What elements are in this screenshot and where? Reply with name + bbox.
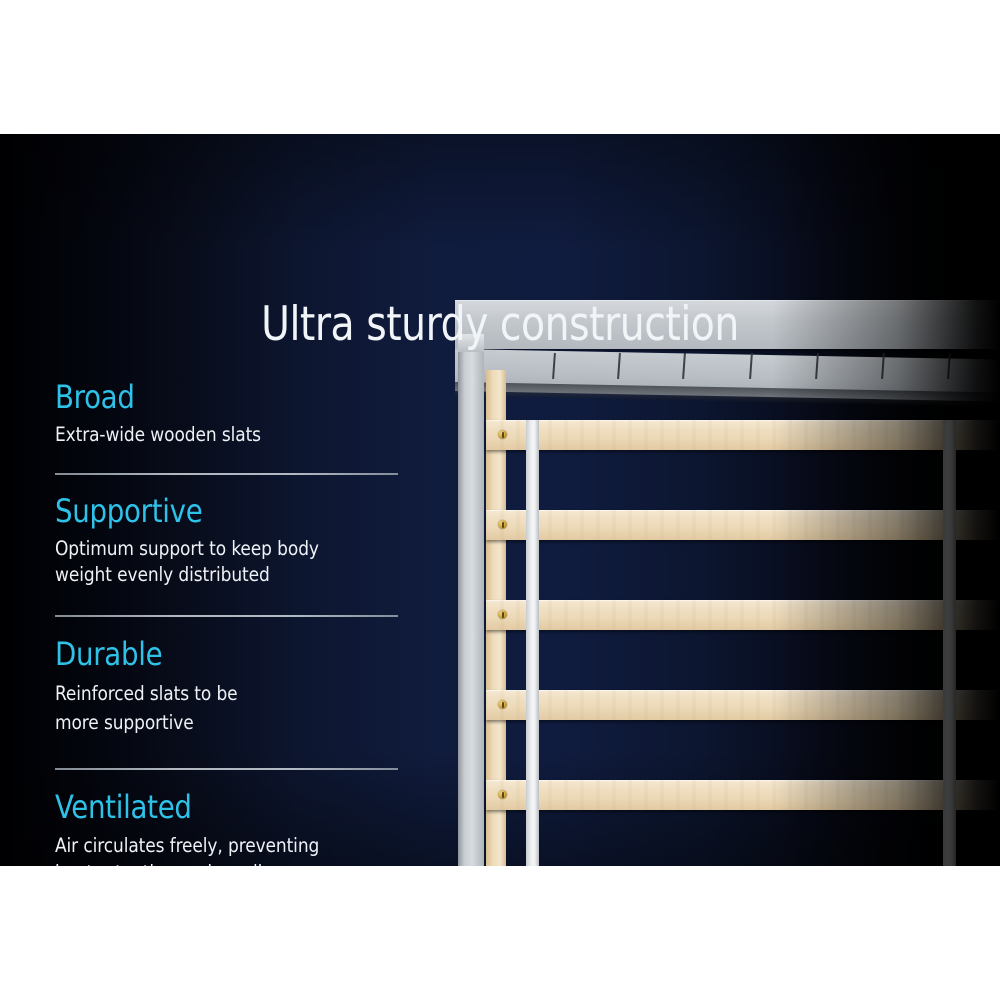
feature-divider <box>55 768 398 770</box>
brass-screw-icon <box>498 700 507 709</box>
feature-broad: Broad Extra-wide wooden slats <box>55 381 400 449</box>
page-title: Ultra sturdy construction <box>35 300 965 349</box>
wooden-slat <box>486 420 1000 450</box>
feature-divider <box>55 615 398 617</box>
brass-screw-icon <box>498 790 507 799</box>
feature-ventilated-heading: Ventilated <box>55 791 386 823</box>
wooden-slat <box>486 780 1000 810</box>
feature-supportive-line-1: Optimum support to keep body <box>55 536 390 563</box>
feature-supportive-body: Optimum support to keep body weight even… <box>55 536 390 589</box>
feature-durable-body: Reinforced slats to be more supportive <box>55 679 390 738</box>
feature-supportive-line-2: weight evenly distributed <box>55 562 390 589</box>
bed-slats-product-photo <box>430 134 1000 866</box>
wooden-slat <box>486 600 1000 630</box>
feature-list: Broad Extra-wide wooden slats Supportive… <box>55 381 400 866</box>
feature-supportive-heading: Supportive <box>55 495 386 527</box>
product-feature-banner: Ultra sturdy construction Broad Extra-wi… <box>0 0 1000 1000</box>
feature-ventilated-line-2: heat retention and smell <box>55 859 390 866</box>
feature-durable: Durable Reinforced slats to be more supp… <box>55 638 400 738</box>
feature-durable-line-1: Reinforced slats to be <box>55 679 390 709</box>
support-strap <box>526 420 539 866</box>
feature-broad-body: Extra-wide wooden slats <box>55 422 390 449</box>
brass-screw-icon <box>498 430 507 439</box>
brass-screw-icon <box>498 520 507 529</box>
photo-vignette <box>430 134 1000 866</box>
feature-broad-line-1: Extra-wide wooden slats <box>55 422 390 449</box>
feature-durable-line-2: more supportive <box>55 708 390 738</box>
bed-side-rail-grey <box>458 334 484 866</box>
wooden-slat <box>486 510 1000 540</box>
feature-supportive: Supportive Optimum support to keep body … <box>55 495 400 589</box>
dark-feature-panel: Ultra sturdy construction Broad Extra-wi… <box>0 134 1000 866</box>
support-strap <box>943 420 956 866</box>
feature-ventilated-line-1: Air circulates freely, preventing <box>55 832 390 859</box>
feature-broad-heading: Broad <box>55 381 386 413</box>
feature-ventilated-body: Air circulates freely, preventing heat r… <box>55 832 390 866</box>
feature-ventilated: Ventilated Air circulates freely, preven… <box>55 791 400 866</box>
feature-durable-heading: Durable <box>55 638 386 670</box>
feature-divider <box>55 473 398 475</box>
wooden-slat <box>486 690 1000 720</box>
brass-screw-icon <box>498 610 507 619</box>
